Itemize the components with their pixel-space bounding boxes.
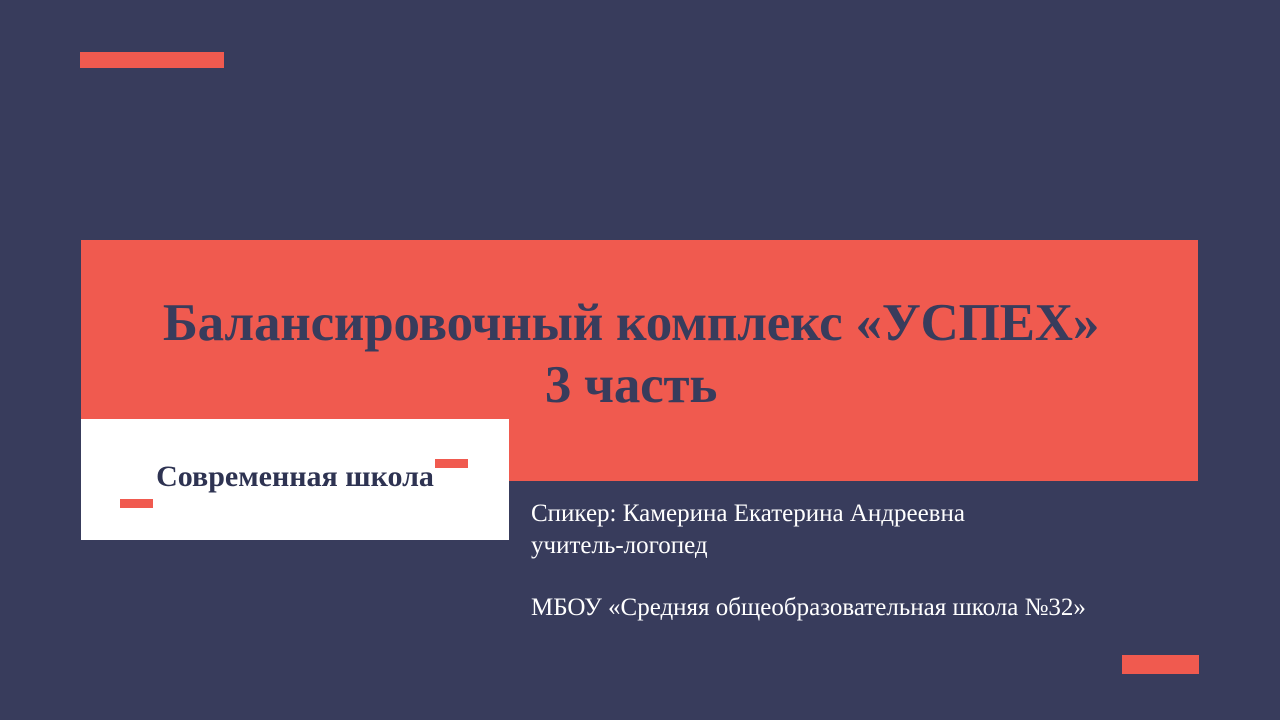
accent-bar-top-left xyxy=(80,52,224,68)
speaker-name: Спикер: Камерина Екатерина Андреевна xyxy=(531,498,1211,530)
speaker-info-block: Спикер: Камерина Екатерина Андреевна учи… xyxy=(531,498,1211,624)
slide-title: Балансировочный комплекс «УСПЕХ» 3 часть xyxy=(81,292,1181,416)
speaker-paragraph: Спикер: Камерина Екатерина Андреевна учи… xyxy=(531,498,1211,562)
slide-subtitle: Современная школа xyxy=(81,459,509,495)
subtitle-panel: Современная школа xyxy=(81,419,509,540)
organization-paragraph: МБОУ «Средняя общеобразовательная школа … xyxy=(531,592,1211,624)
accent-bar-bottom-right xyxy=(1122,655,1199,674)
speaker-role: учитель-логопед xyxy=(531,530,1211,562)
presentation-slide: Балансировочный комплекс «УСПЕХ» 3 часть… xyxy=(0,0,1280,720)
organization-name: МБОУ «Средняя общеобразовательная школа … xyxy=(531,592,1211,624)
accent-dash-bottom-left xyxy=(120,499,153,508)
